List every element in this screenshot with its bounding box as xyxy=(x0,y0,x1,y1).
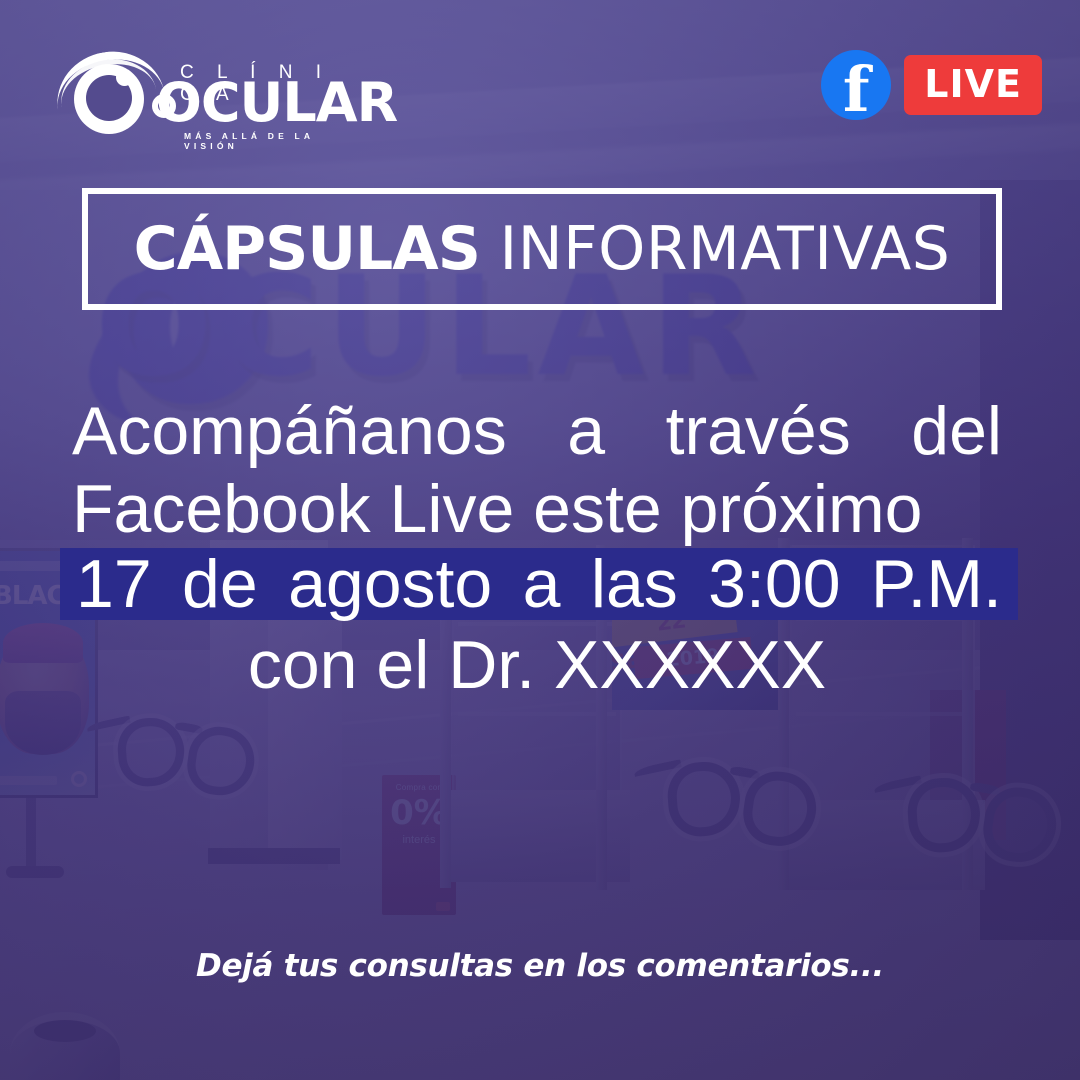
logo-tagline: MÁS ALLÁ DE LA VISIÓN xyxy=(184,131,352,151)
body-line-2: Facebook Live este próximo xyxy=(72,470,1012,548)
footer-cta: Dejá tus consultas en los comentarios... xyxy=(0,948,1080,984)
title-light: INFORMATIVAS xyxy=(500,214,951,284)
brand-logo: C L Í N I C A OCULAR MÁS ALLÁ DE LA VISI… xyxy=(52,38,352,130)
body-word: del xyxy=(911,392,1002,470)
body-line-3: 17 de agosto a las 3:00 P.M. xyxy=(72,548,1002,620)
body-word: a xyxy=(523,548,561,620)
body-word: las xyxy=(591,548,678,620)
title-frame: CÁPSULAS INFORMATIVAS xyxy=(82,188,1002,310)
body-word: 17 xyxy=(76,548,152,620)
eye-logo-icon xyxy=(60,50,156,134)
page-title: CÁPSULAS INFORMATIVAS xyxy=(134,214,951,284)
title-bold: CÁPSULAS xyxy=(134,214,480,284)
body-word: agosto xyxy=(288,548,492,620)
body-word: P.M. xyxy=(871,548,1002,620)
facebook-f-glyph: f xyxy=(821,50,891,120)
poster-canvas: OCULAR BLACK FR Compra con 0% inte xyxy=(0,0,1080,1080)
live-label: LIVE xyxy=(904,55,1042,115)
body-line-4: con el Dr. XXXXXX xyxy=(72,626,1002,704)
facebook-live-badge[interactable]: f LIVE xyxy=(821,50,1042,120)
body-word: 3:00 xyxy=(708,548,840,620)
body-word: través xyxy=(666,392,851,470)
body-line-1: Acompáñanos a través del xyxy=(72,392,1002,470)
facebook-icon[interactable]: f xyxy=(821,50,891,120)
body-word: Acompáñanos xyxy=(72,392,507,470)
highlight-line-wrapper: 17 de agosto a las 3:00 P.M. xyxy=(72,548,1012,626)
body-word: a xyxy=(567,392,605,470)
logo-ocular-text: OCULAR xyxy=(156,76,397,130)
body-copy: Acompáñanos a través del Facebook Live e… xyxy=(72,392,1012,704)
poster-content: C L Í N I C A OCULAR MÁS ALLÁ DE LA VISI… xyxy=(0,0,1080,1080)
body-word: de xyxy=(182,548,258,620)
